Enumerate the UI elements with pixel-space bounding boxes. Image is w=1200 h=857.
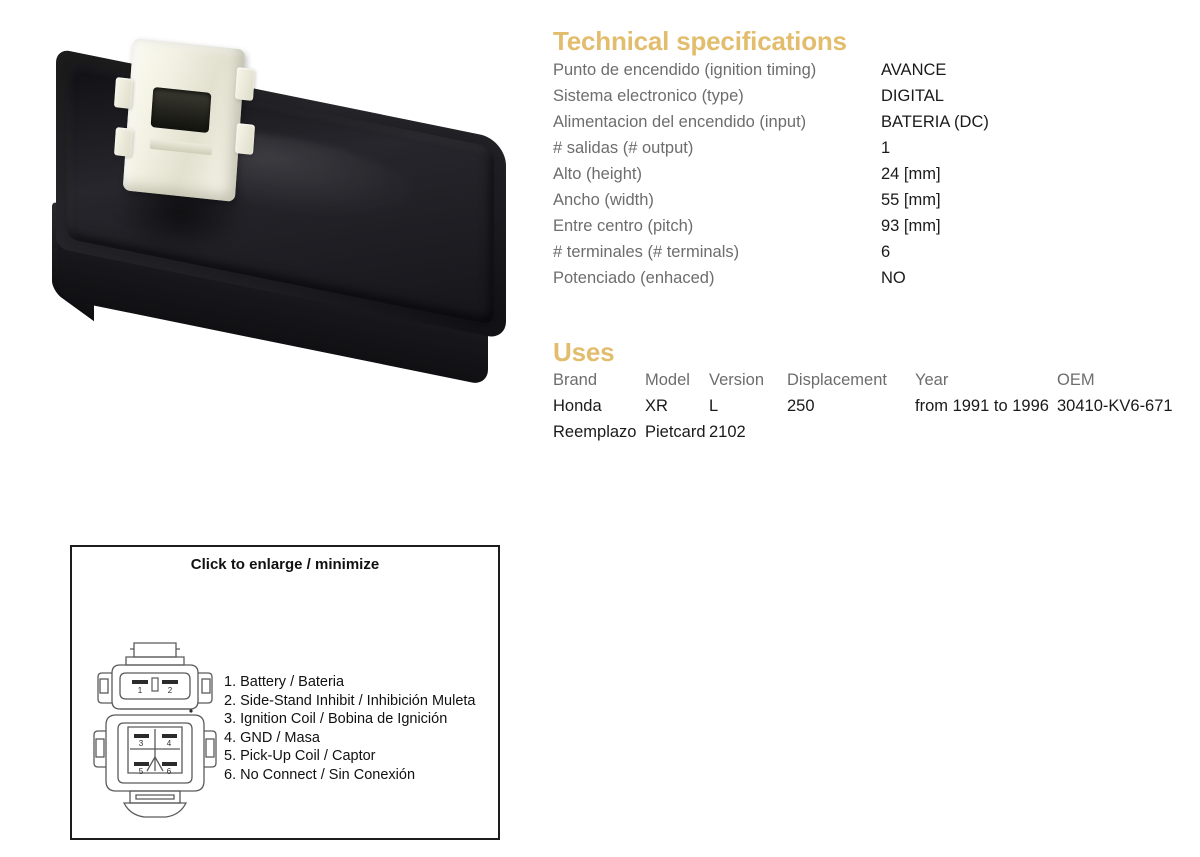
diagram-content: 1 2 — [72, 591, 498, 826]
pinout-diagram-box[interactable]: Click to enlarge / minimize — [70, 545, 500, 840]
replacement-brand: Pietcard — [645, 419, 709, 445]
column-header-model: Model — [645, 371, 709, 393]
column-header-displacement: Displacement — [787, 371, 915, 393]
spec-label: Sistema electronico (type) — [553, 87, 881, 106]
spec-label: Potenciado (enhaced) — [553, 269, 881, 288]
spec-row: Sistema electronico (type) DIGITAL — [553, 87, 1173, 113]
pin-item-1: 1. Battery / Bateria — [224, 673, 475, 692]
svg-text:3: 3 — [139, 739, 144, 748]
table-row: Honda XR L 250 from 1991 to 1996 30410-K… — [553, 393, 1193, 419]
spec-label: Alto (height) — [553, 165, 881, 184]
svg-text:6: 6 — [167, 767, 172, 776]
svg-text:2: 2 — [168, 686, 173, 695]
spec-label: # terminales (# terminals) — [553, 243, 881, 262]
column-header-brand: Brand — [553, 371, 645, 393]
connector-latch-tab — [235, 123, 255, 155]
pin-item-5: 5. Pick-Up Coil / Captor — [224, 747, 475, 766]
column-header-year: Year — [915, 371, 1057, 393]
diagram-title[interactable]: Click to enlarge / minimize — [72, 556, 498, 573]
cell-oem: 30410-KV6-671 — [1057, 393, 1193, 419]
cell-model: XR — [645, 393, 709, 419]
pin-item-3: 3. Ignition Coil / Bobina de Ignición — [224, 710, 475, 729]
uses-section: Uses Brand Model Version Displacement Ye… — [553, 337, 1193, 445]
cell-displacement: 250 — [787, 393, 915, 419]
connector-latch-tab — [114, 77, 133, 109]
cell-brand: Honda — [553, 393, 645, 419]
spec-label: Ancho (width) — [553, 191, 881, 210]
replacement-spacer — [1057, 419, 1193, 445]
spec-label: Entre centro (pitch) — [553, 217, 881, 236]
svg-text:4: 4 — [167, 739, 172, 748]
cell-year: from 1991 to 1996 — [915, 393, 1057, 419]
table-header-row: Brand Model Version Displacement Year OE… — [553, 371, 1193, 393]
replacement-row: Reemplazo Pietcard 2102 — [553, 419, 1193, 445]
spec-row: Punto de encendido (ignition timing) AVA… — [553, 61, 1173, 87]
connector-latch-tab — [235, 67, 255, 101]
replacement-number: 2102 — [709, 419, 787, 445]
cdi-module-photo — [36, 34, 536, 404]
replacement-spacer — [915, 419, 1057, 445]
spec-value: AVANCE — [881, 61, 946, 80]
pin-item-6: 6. No Connect / Sin Conexión — [224, 766, 475, 785]
connector-cavity — [151, 87, 212, 133]
replacement-spacer — [787, 419, 915, 445]
spec-row: Entre centro (pitch) 93 [mm] — [553, 217, 1173, 243]
spec-value: NO — [881, 269, 906, 288]
replacement-label: Reemplazo — [553, 419, 645, 445]
svg-text:5: 5 — [139, 767, 144, 776]
spec-label: # salidas (# output) — [553, 139, 881, 158]
product-photo — [36, 34, 536, 404]
spec-value: 24 [mm] — [881, 165, 941, 184]
pin-item-4: 4. GND / Masa — [224, 729, 475, 748]
spec-row: # salidas (# output) 1 — [553, 139, 1173, 165]
connector-pinout-diagram-icon: 1 2 — [90, 639, 220, 829]
uses-table: Brand Model Version Displacement Year OE… — [553, 371, 1193, 445]
spec-value: DIGITAL — [881, 87, 944, 106]
technical-specifications-section: Technical specifications Punto de encend… — [553, 26, 1173, 295]
svg-text:1: 1 — [138, 686, 143, 695]
spec-value: BATERIA (DC) — [881, 113, 989, 132]
pin-description-list: 1. Battery / Bateria 2. Side-Stand Inhib… — [224, 673, 475, 785]
uses-heading: Uses — [553, 337, 1193, 367]
column-header-oem: OEM — [1057, 371, 1193, 393]
pin-item-2: 2. Side-Stand Inhibit / Inhibición Mulet… — [224, 692, 475, 711]
connector-latch-tab — [114, 127, 133, 157]
spec-value: 93 [mm] — [881, 217, 941, 236]
specs-heading: Technical specifications — [553, 26, 1173, 56]
spec-row: Ancho (width) 55 [mm] — [553, 191, 1173, 217]
spec-value: 1 — [881, 139, 890, 158]
spec-label: Punto de encendido (ignition timing) — [553, 61, 881, 80]
column-header-version: Version — [709, 371, 787, 393]
spec-row: Potenciado (enhaced) NO — [553, 269, 1173, 295]
spec-value: 6 — [881, 243, 890, 262]
cdi-white-connector — [128, 44, 240, 196]
spec-row: Alto (height) 24 [mm] — [553, 165, 1173, 191]
spec-row: Alimentacion del encendido (input) BATER… — [553, 113, 1173, 139]
cell-version: L — [709, 393, 787, 419]
spec-label: Alimentacion del encendido (input) — [553, 113, 881, 132]
spec-row: # terminales (# terminals) 6 — [553, 243, 1173, 269]
spec-value: 55 [mm] — [881, 191, 941, 210]
